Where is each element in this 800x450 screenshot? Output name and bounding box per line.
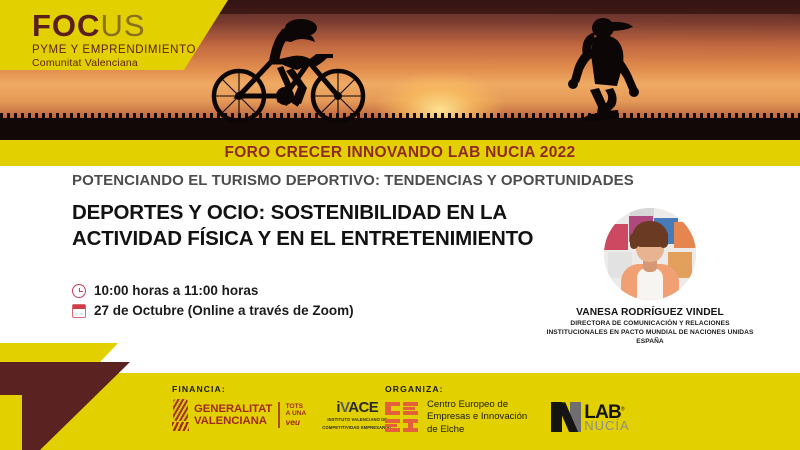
focus-logo-line2: PYME Y EMPRENDIMIENTO <box>32 44 196 56</box>
financia-logos: GENERALITAT VALENCIANA TOTS A UNA veu iV… <box>172 399 392 431</box>
event-headline: DEPORTES Y OCIO: SOSTENIBILIDAD EN LA AC… <box>72 200 542 251</box>
event-date-text: 27 de Octubre (Online a través de Zoom) <box>94 303 354 318</box>
ivace-sub2: COMPETITIVIDAD EMPRESARIAL <box>322 425 392 430</box>
financia-label: FINANCIA: <box>172 384 392 394</box>
financia-group: FINANCIA: GENERALITAT VALENCIANA TOTS A … <box>172 384 392 431</box>
event-banner-bar: FORO CRECER INNOVANDO LAB NUCIA 2022 <box>0 140 800 166</box>
focus-logo-line3: Comunitat Valenciana <box>32 57 196 69</box>
calendar-icon <box>72 304 86 318</box>
speaker-avatar <box>604 208 696 300</box>
focus-logo-wordmark: FOCUS <box>32 10 196 41</box>
event-details: 10:00 horas a 11:00 horas 27 de Octubre … <box>72 283 354 323</box>
speaker-name: VANESA RODRÍGUEZ VINDEL <box>545 307 755 318</box>
crest-figure <box>173 399 188 421</box>
lab-text: LAB® <box>584 403 629 422</box>
clock-icon <box>72 284 86 298</box>
ceei-name: Centro Europeo de Empresas e Innovación … <box>427 399 527 436</box>
organiza-logos: Centro Europeo de Empresas e Innovación … <box>385 399 630 436</box>
lab-nucia-logo: LAB® NUCÍA <box>551 402 629 432</box>
ceei-line3: de Elche <box>427 424 527 436</box>
organiza-group: ORGANIZA: Centro Eu <box>385 384 630 436</box>
lab-nucia-wordmark: LAB® NUCÍA <box>584 403 629 432</box>
focus-logo: FOCUS PYME Y EMPRENDIMIENTO Comunitat Va… <box>32 10 196 69</box>
organiza-label: ORGANIZA: <box>385 384 630 394</box>
ivace-rest: ACE <box>348 399 378 416</box>
event-time-row: 10:00 horas a 11:00 horas <box>72 283 354 298</box>
ivace-logo: iVACE INSTITUTO VALENCIANO DE COMPETITIV… <box>322 400 392 430</box>
lab-nucia-n-icon <box>551 402 581 432</box>
tots-line3: veu <box>286 418 307 427</box>
event-subtitle: POTENCIANDO EL TURISMO DEPORTIVO: TENDEN… <box>72 172 762 189</box>
speaker-block: VANESA RODRÍGUEZ VINDEL DIRECTORA DE COM… <box>545 208 755 347</box>
tots-a-una-veu-mark: TOTS A UNA veu <box>286 403 307 427</box>
ground-silhouette <box>0 118 800 140</box>
lab-text-value: LAB <box>584 402 621 423</box>
tots-line1: TOTS <box>286 403 307 410</box>
ceei-line1: Centro Europeo de <box>427 399 527 411</box>
focus-logo-dark: FOC <box>32 8 100 43</box>
registered-mark-icon: ® <box>621 407 624 413</box>
avatar-shirt <box>637 268 663 300</box>
speaker-role: DIRECTORA DE COMUNICACIÓN Y RELACIONES I… <box>545 320 755 347</box>
event-banner-title: FORO CRECER INNOVANDO LAB NUCIA 2022 <box>225 144 576 162</box>
event-date-row: 27 de Octubre (Online a través de Zoom) <box>72 303 354 318</box>
crest-stripes <box>172 422 189 431</box>
cyclist-silhouette <box>205 16 385 124</box>
generalitat-line1: GENERALITAT <box>194 403 272 415</box>
generalitat-valenciana-logo: GENERALITAT VALENCIANA TOTS A UNA veu <box>172 399 306 431</box>
ceei-logo: Centro Europeo de Empresas e Innovación … <box>385 399 527 436</box>
generalitat-line2: VALENCIANA <box>194 415 272 427</box>
hero-image: FOCUS PYME Y EMPRENDIMIENTO Comunitat Va… <box>0 0 800 140</box>
generalitat-crest-icon <box>172 399 189 431</box>
ivace-wordmark: iVACE <box>322 400 392 415</box>
runner-silhouette <box>545 14 655 124</box>
ceei-logo-icon <box>385 402 419 432</box>
ivace-sub1: INSTITUTO VALENCIANO DE <box>322 417 392 422</box>
event-poster: FOCUS PYME Y EMPRENDIMIENTO Comunitat Va… <box>0 0 800 450</box>
generalitat-wordmark: GENERALITAT VALENCIANA <box>194 403 272 428</box>
ceei-line2: Empresas e Innovación <box>427 411 527 423</box>
logo-divider <box>278 402 279 428</box>
avatar-hair-side <box>659 230 668 248</box>
event-time-text: 10:00 horas a 11:00 horas <box>94 283 258 298</box>
focus-logo-light: US <box>100 8 145 43</box>
